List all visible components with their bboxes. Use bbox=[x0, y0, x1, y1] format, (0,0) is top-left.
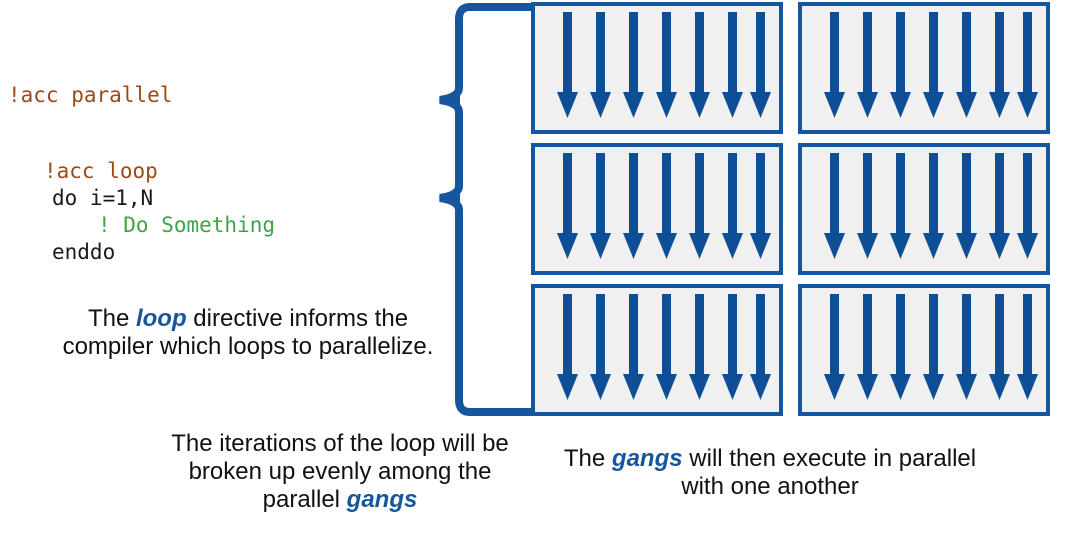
worker-arrows-icon bbox=[802, 288, 1046, 412]
gang-box bbox=[531, 143, 783, 275]
code-line-acc-loop: !acc loop bbox=[44, 158, 158, 185]
gang-box bbox=[531, 284, 783, 416]
caption-gangs-execute: The gangs will then execute in parallel … bbox=[560, 445, 980, 501]
code-line-do: do i=1,N bbox=[52, 185, 153, 212]
caption-gangs-execute-emphasis: gangs bbox=[612, 445, 683, 472]
caption-loop-directive-emphasis: loop bbox=[136, 305, 187, 332]
gang-row bbox=[531, 284, 1071, 420]
caption-iterations-part1: The iterations of the loop will be broke… bbox=[171, 430, 509, 513]
code-block: !acc parallel !acc loop do i=1,N ! Do So… bbox=[0, 82, 430, 244]
gang-grid bbox=[531, 2, 1071, 420]
caption-iterations: The iterations of the loop will be broke… bbox=[150, 430, 530, 514]
worker-arrows-icon bbox=[535, 288, 779, 412]
grouping-brace bbox=[432, 0, 532, 425]
worker-arrows-icon bbox=[535, 147, 779, 271]
gang-row bbox=[531, 2, 1071, 138]
worker-arrows-icon bbox=[802, 6, 1046, 130]
caption-iterations-emphasis: gangs bbox=[347, 486, 418, 513]
gang-box bbox=[798, 2, 1050, 134]
gang-box bbox=[531, 2, 783, 134]
code-line-enddo: enddo bbox=[52, 239, 115, 266]
worker-arrows-icon bbox=[802, 147, 1046, 271]
gang-box bbox=[798, 284, 1050, 416]
caption-loop-directive-part1: The bbox=[88, 305, 136, 332]
caption-gangs-execute-part1: The bbox=[564, 445, 612, 472]
worker-arrows-icon bbox=[535, 6, 779, 130]
left-curly-brace-icon bbox=[432, 0, 532, 425]
caption-gangs-execute-part2: will then execute in parallel with one a… bbox=[681, 445, 976, 500]
code-line-comment: ! Do Something bbox=[98, 212, 275, 239]
gang-box bbox=[798, 143, 1050, 275]
code-line-acc-parallel: !acc parallel bbox=[8, 82, 172, 109]
caption-loop-directive: The loop directive informs the compiler … bbox=[48, 305, 448, 361]
gang-row bbox=[531, 143, 1071, 279]
